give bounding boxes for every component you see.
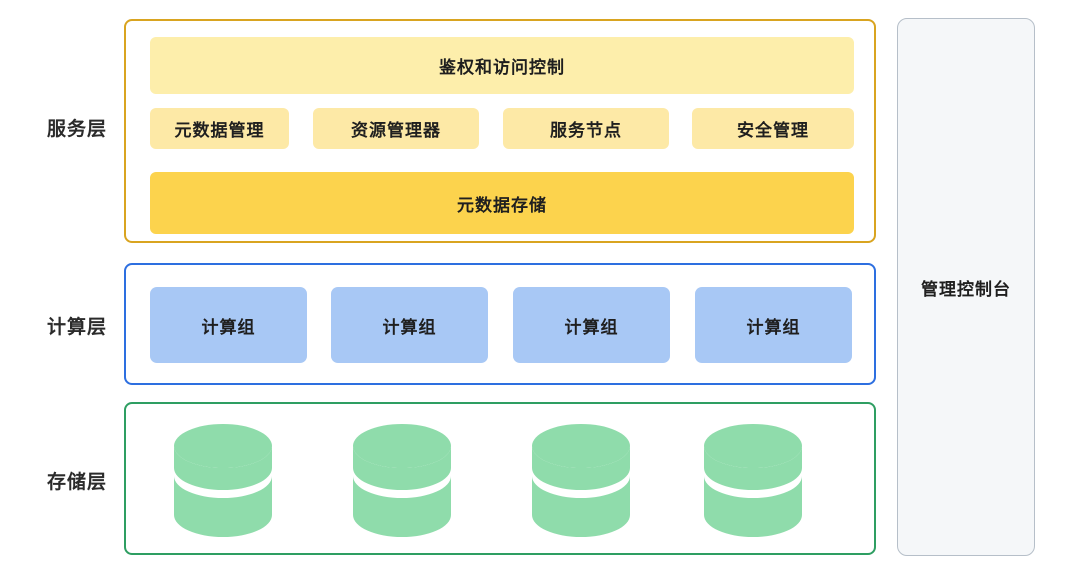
- service-block-metadata-management-label: 元数据管理: [175, 116, 265, 141]
- management-console-label: 管理控制台: [921, 275, 1011, 300]
- service-block-resource-manager-label: 资源管理器: [351, 116, 441, 141]
- storage-node-1[interactable]: [174, 424, 272, 537]
- layer-container-compute: 计算组 计算组 计算组 计算组: [124, 263, 876, 385]
- service-block-metadata-store[interactable]: 元数据存储: [150, 172, 854, 234]
- database-cylinder-icon: [532, 424, 630, 537]
- database-cylinder-icon: [174, 424, 272, 537]
- storage-node-4[interactable]: [704, 424, 802, 537]
- database-cylinder-icon: [704, 424, 802, 537]
- service-block-security-management-label: 安全管理: [737, 116, 809, 141]
- compute-group-card-3[interactable]: 计算组: [513, 287, 670, 363]
- management-console-panel[interactable]: 管理控制台: [897, 18, 1035, 556]
- layer-label-storage-text: 存储层: [47, 467, 107, 494]
- layer-container-storage: [124, 402, 876, 555]
- layer-label-compute-text: 计算层: [47, 312, 107, 339]
- compute-group-card-2-label: 计算组: [383, 313, 437, 338]
- service-block-auth[interactable]: 鉴权和访问控制: [150, 37, 854, 94]
- service-block-service-node[interactable]: 服务节点: [503, 108, 669, 149]
- compute-group-card-3-label: 计算组: [565, 313, 619, 338]
- service-block-security-management[interactable]: 安全管理: [692, 108, 854, 149]
- storage-node-2[interactable]: [353, 424, 451, 537]
- service-block-auth-label: 鉴权和访问控制: [439, 53, 565, 78]
- service-block-metadata-management[interactable]: 元数据管理: [150, 108, 289, 149]
- layer-label-service-text: 服务层: [47, 114, 107, 141]
- compute-group-card-4[interactable]: 计算组: [695, 287, 852, 363]
- compute-group-card-1-label: 计算组: [202, 313, 256, 338]
- compute-group-card-1[interactable]: 计算组: [150, 287, 307, 363]
- layer-label-service: 服务层: [47, 112, 127, 142]
- service-block-metadata-store-label: 元数据存储: [457, 191, 547, 216]
- layer-label-storage: 存储层: [47, 465, 127, 495]
- service-block-resource-manager[interactable]: 资源管理器: [313, 108, 479, 149]
- architecture-diagram: 服务层 鉴权和访问控制 元数据管理 资源管理器 服务节点 安全管理 元数据存储 …: [0, 0, 1080, 588]
- layer-label-compute: 计算层: [47, 310, 127, 340]
- service-block-service-node-label: 服务节点: [550, 116, 622, 141]
- layer-container-service: 鉴权和访问控制 元数据管理 资源管理器 服务节点 安全管理 元数据存储: [124, 19, 876, 243]
- database-cylinder-icon: [353, 424, 451, 537]
- compute-group-card-2[interactable]: 计算组: [331, 287, 488, 363]
- storage-node-3[interactable]: [532, 424, 630, 537]
- compute-group-card-4-label: 计算组: [747, 313, 801, 338]
